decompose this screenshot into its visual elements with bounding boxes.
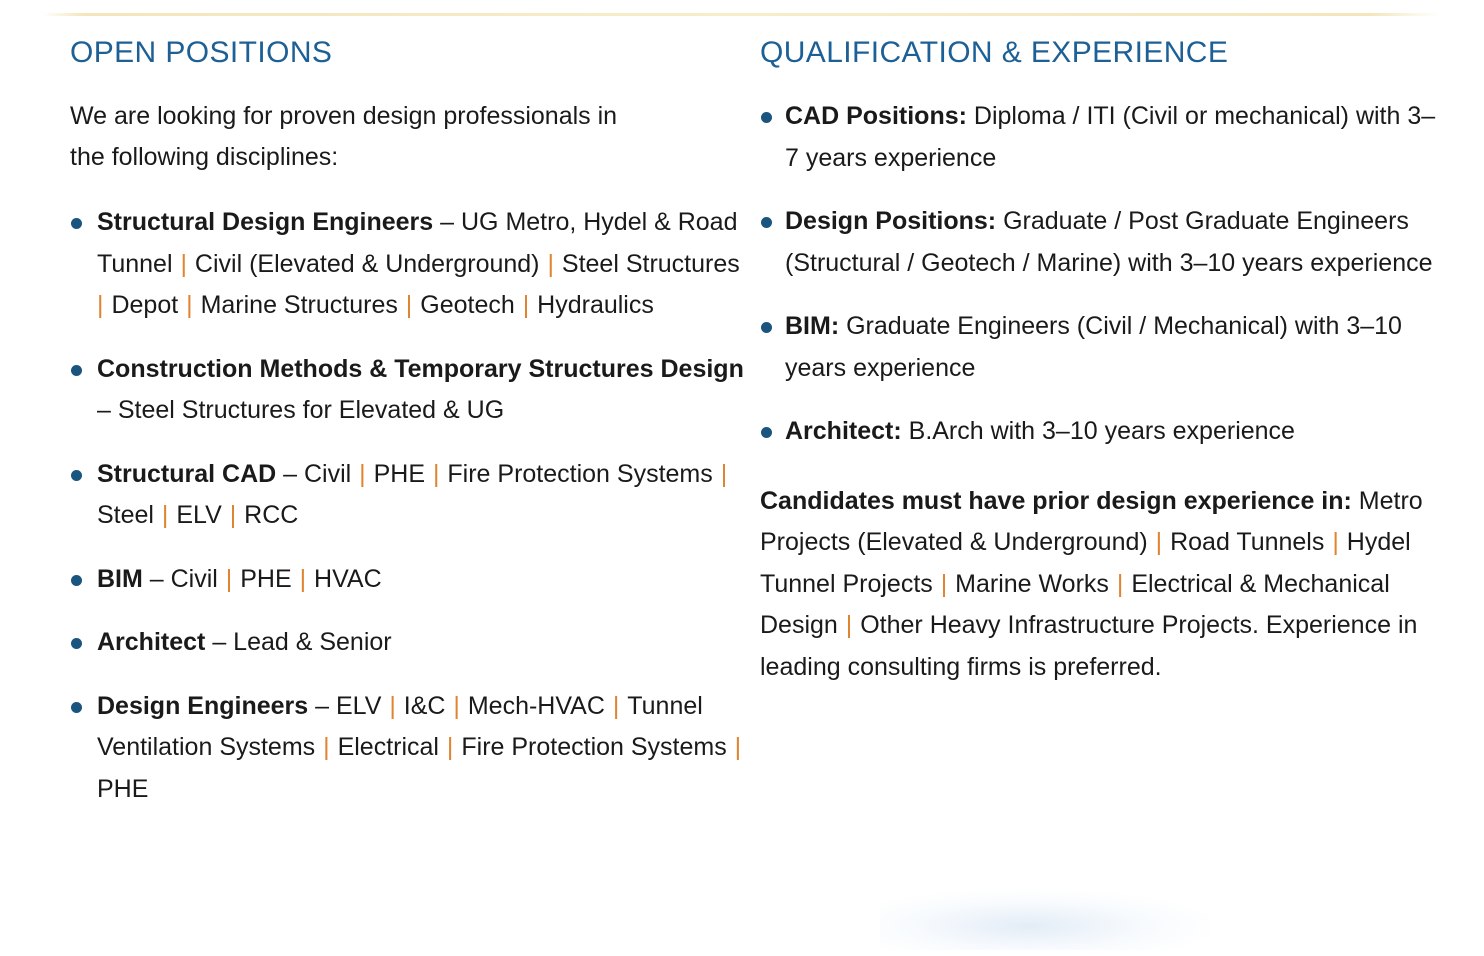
item-segment: B.Arch with 3–10 years experience [909,417,1295,445]
item-lead-label: Candidates must have prior design experi… [760,487,1352,515]
pipe-separator-icon: | [605,692,627,720]
item-segment: Fire Protection Systems [461,733,726,761]
item-segment: Lead & Senior [233,628,391,656]
list-item: Structural CAD – Civil | PHE | Fire Prot… [70,454,750,537]
qualification-experience-heading: QUALIFICATION & EXPERIENCE [760,36,1440,70]
item-segment: Civil [171,565,218,593]
item-segment: RCC [244,501,298,529]
pipe-separator-icon: | [713,460,728,488]
open-positions-list: Structural Design Engineers – UG Metro, … [70,202,750,810]
item-lead-label: Construction Methods & Temporary Structu… [97,355,744,383]
pipe-separator-icon: | [515,291,537,319]
item-lead-label: Structural CAD [97,460,276,488]
list-item: Design Positions: Graduate / Post Gradua… [760,201,1440,284]
item-segment: Steel Structures for Elevated & UG [118,396,504,424]
item-segment: Fire Protection Systems [447,460,712,488]
item-segment: PHE [97,775,148,803]
item-segment: HVAC [314,565,382,593]
pipe-separator-icon: | [838,611,860,639]
list-item: Architect: B.Arch with 3–10 years experi… [760,411,1440,453]
pipe-separator-icon: | [727,733,742,761]
list-item: Construction Methods & Temporary Structu… [70,349,750,432]
item-segment: I&C [404,692,446,720]
item-segment: Graduate Engineers (Civil / Mechanical) … [785,312,1402,382]
item-lead-label: BIM: [785,312,839,340]
item-segment: Hydraulics [537,291,654,319]
pipe-separator-icon: | [154,501,176,529]
item-lead-label: BIM [97,565,143,593]
item-segment: Civil [304,460,351,488]
item-lead-label: Structural Design Engineers [97,208,433,236]
item-lead-label: CAD Positions: [785,102,967,130]
pipe-separator-icon: | [218,565,240,593]
candidates-requirement-paragraph: Candidates must have prior design experi… [760,481,1440,689]
item-segment: Civil (Elevated & Underground) [195,250,540,278]
item-segment: ELV [336,692,381,720]
item-segment: Geotech [420,291,515,319]
pipe-separator-icon: | [445,692,467,720]
pipe-separator-icon: | [933,570,955,598]
pipe-separator-icon: | [1324,528,1346,556]
list-item: Structural Design Engineers – UG Metro, … [70,202,750,327]
pipe-separator-icon: | [1148,528,1170,556]
qualification-experience-column: QUALIFICATION & EXPERIENCE CAD Positions… [760,36,1440,956]
item-lead-label: Design Engineers [97,692,308,720]
pipe-separator-icon: | [351,460,373,488]
pipe-separator-icon: | [173,250,195,278]
bullet-dot-icon [71,702,82,713]
pipe-separator-icon: | [540,250,562,278]
pipe-separator-icon: | [315,733,337,761]
item-segment: Steel Structures [562,250,740,278]
item-segment: Depot [111,291,178,319]
item-segment: PHE [240,565,291,593]
bullet-dot-icon [71,218,82,229]
list-item: BIM – Civil | PHE | HVAC [70,559,750,601]
item-segment: PHE [374,460,425,488]
pipe-separator-icon: | [178,291,200,319]
item-segment: Steel [97,501,154,529]
bullet-dot-icon [71,638,82,649]
bullet-dot-icon [71,470,82,481]
bullet-dot-icon [71,575,82,586]
item-segment: Marine Works [955,570,1109,598]
pipe-separator-icon: | [425,460,447,488]
open-positions-heading: OPEN POSITIONS [70,36,750,70]
list-item: Design Engineers – ELV | I&C | Mech-HVAC… [70,686,750,811]
item-segment: Mech-HVAC [468,692,605,720]
bullet-dot-icon [71,365,82,376]
bullet-dot-icon [761,427,772,438]
open-positions-intro: We are looking for proven design profess… [70,96,630,178]
list-item: BIM: Graduate Engineers (Civil / Mechani… [760,306,1440,389]
item-segment: Marine Structures [201,291,398,319]
item-segment: Road Tunnels [1170,528,1324,556]
item-lead-label: Architect: [785,417,902,445]
item-segment: Electrical [338,733,439,761]
pipe-separator-icon: | [1109,570,1131,598]
pipe-separator-icon: | [398,291,420,319]
bullet-dot-icon [761,322,772,333]
list-item: Architect – Lead & Senior [70,622,750,664]
item-lead-label: Architect [97,628,205,656]
pipe-separator-icon: | [439,733,461,761]
pipe-separator-icon: | [381,692,403,720]
pipe-separator-icon: | [292,565,314,593]
qualification-list: CAD Positions: Diploma / ITI (Civil or m… [760,96,1440,453]
list-item: CAD Positions: Diploma / ITI (Civil or m… [760,96,1440,179]
pipe-separator-icon: | [222,501,244,529]
bullet-dot-icon [761,112,772,123]
item-segment: ELV [176,501,221,529]
item-lead-label: Design Positions: [785,207,996,235]
job-posting-page: OPEN POSITIONS We are looking for proven… [0,0,1484,956]
bullet-dot-icon [761,217,772,228]
open-positions-column: OPEN POSITIONS We are looking for proven… [70,36,760,956]
